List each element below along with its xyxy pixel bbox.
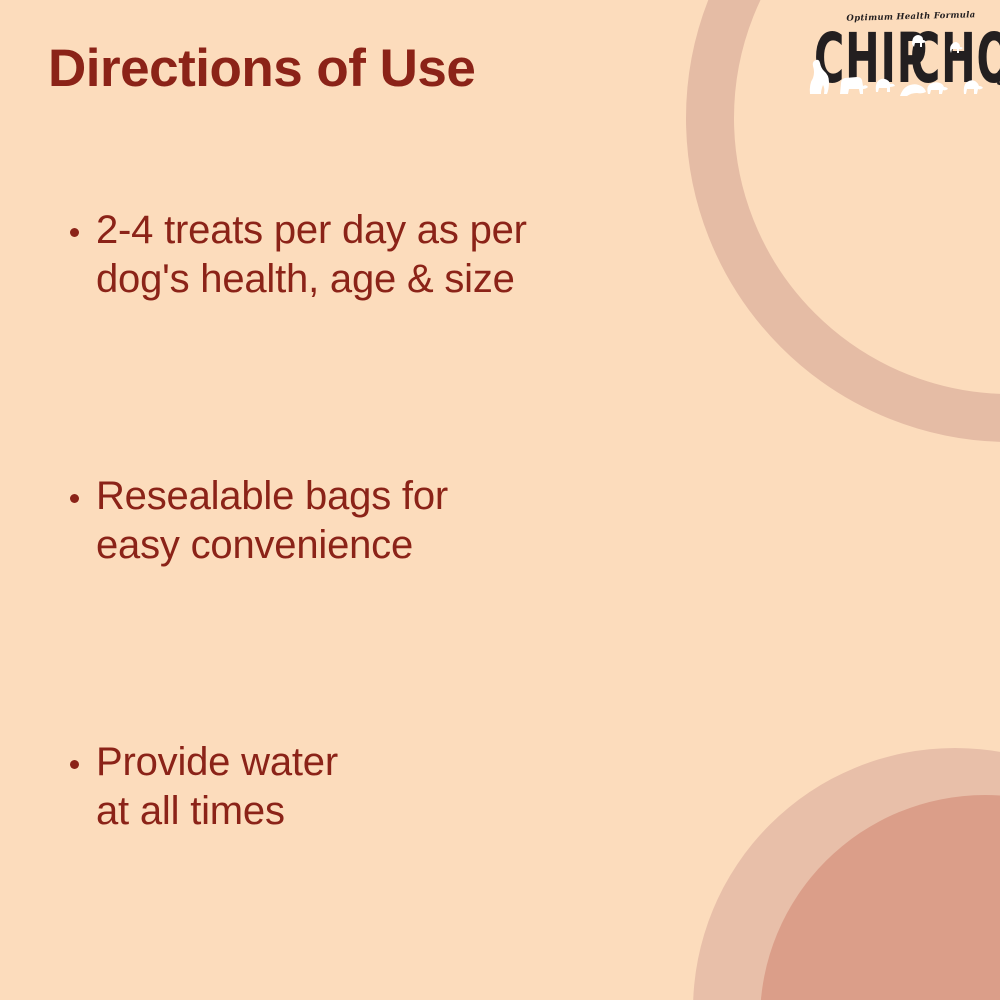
poster-canvas: Optimum Health Formula CHIP CHOP S [0,0,1000,1000]
page-title: Directions of Use [48,40,475,98]
bullet-dot-icon [70,494,79,503]
bullet-dot-icon [70,228,79,237]
dog-silhouette-small-top-2 [950,42,963,53]
bottom-right-inner-circle [760,795,1000,1000]
bullet-dot-icon [70,760,79,769]
dog-silhouette-standing-3 [964,80,983,94]
list-item-text: Provide water at all times [96,738,702,836]
bottom-right-outer-circle [693,748,1000,1000]
dog-silhouette-running [927,82,948,94]
list-item-text: Resealable bags for easy convenience [96,472,702,570]
dog-silhouettes [800,4,1000,100]
dog-silhouette-sitting [810,60,829,94]
list-item: Provide water at all times [62,738,702,836]
dog-silhouette-standing-1 [840,77,868,94]
list-item: 2-4 treats per day as per dog's health, … [62,206,702,304]
list-item-text: 2-4 treats per day as per dog's health, … [96,206,702,304]
dog-silhouette-leaping [900,84,926,96]
dog-silhouette-small-top [912,35,926,47]
directions-list: 2-4 treats per day as per dog's health, … [62,206,702,836]
brand-logo: Optimum Health Formula CHIP CHOP S [800,4,1000,100]
list-item: Resealable bags for easy convenience [62,472,702,570]
dog-silhouette-standing-2 [876,79,895,92]
